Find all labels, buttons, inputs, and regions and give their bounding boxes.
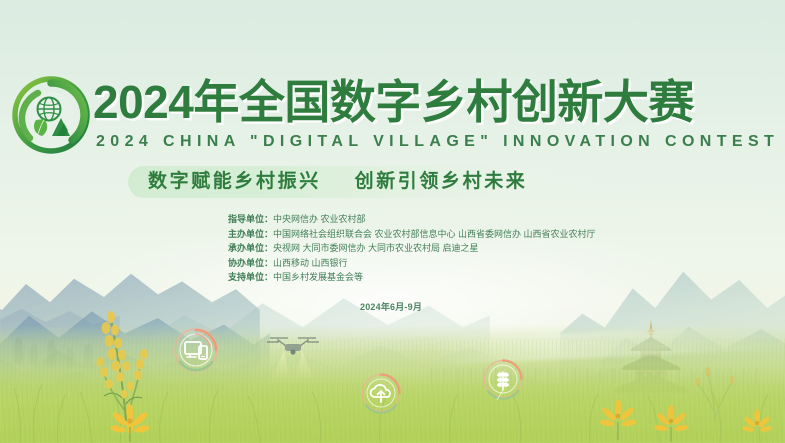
yellow-lily-flower	[598, 398, 638, 440]
cloud-upload-icon	[360, 372, 402, 414]
wheat-stalk	[82, 306, 162, 421]
city-skyline	[430, 368, 760, 394]
grotto-niche	[66, 348, 74, 368]
organizer-label: 承办单位：	[228, 243, 273, 253]
drone-icon	[264, 328, 322, 384]
organizer-value: 中央网信办 农业农村部	[273, 214, 366, 224]
grass-field	[0, 325, 785, 443]
city-skyline	[40, 372, 270, 390]
mountain-range	[150, 272, 490, 392]
mountain-range	[470, 340, 785, 420]
devices-monitor-phone-icon	[172, 326, 220, 374]
slogan-banner: 数字赋能乡村振兴 创新引领乡村未来	[128, 166, 668, 198]
grass-texture	[0, 383, 785, 443]
organizer-label: 主办单位：	[228, 229, 273, 239]
mountain-range	[0, 352, 230, 422]
slogan-right-text: 创新引领乡村未来	[355, 171, 528, 192]
organizer-value: 中国乡村发展基金会等	[273, 272, 363, 282]
yellow-lily-flower	[740, 408, 774, 442]
organizer-value: 山西移动 山西银行	[273, 258, 348, 268]
reed-plant	[690, 352, 740, 422]
field-path	[430, 323, 785, 365]
pagoda-tower	[608, 318, 694, 410]
grass-field-foreground	[0, 371, 785, 443]
organizer-line: 主办单位：中国网络社会组织联合会 农业农村部信息中心 山西省委网信办 山西省农业…	[228, 227, 748, 242]
organizer-line: 协办单位：山西移动 山西银行	[228, 256, 748, 271]
wheat-grain-icon	[482, 358, 524, 400]
slogan-text: 数字赋能乡村振兴 创新引领乡村未来	[148, 166, 527, 198]
yellow-lily-flower	[652, 404, 690, 442]
organizers-block: 指导单位：中央网信办 农业农村部 主办单位：中国网络社会组织联合会 农业农村部信…	[228, 212, 748, 285]
contest-emblem-globe-leaf-mountain-icon	[12, 76, 90, 154]
grass-texture	[0, 338, 785, 443]
yellow-lily-flower	[108, 402, 152, 442]
slogan-left-text: 数字赋能乡村振兴	[148, 171, 321, 192]
page-subtitle: 2024 CHINA "DIGITAL VILLAGE" INNOVATION …	[96, 132, 776, 152]
grotto-niche	[14, 338, 23, 364]
mountain-range	[260, 318, 560, 410]
grotto-niche	[84, 344, 93, 368]
grotto-niche	[47, 340, 56, 368]
grotto-niche	[30, 344, 38, 366]
organizer-line: 指导单位：中央网信办 农业农村部	[228, 212, 748, 227]
organizer-value: 中国网络社会组织联合会 农业农村部信息中心 山西省委网信办 山西省农业农村厅	[273, 229, 596, 239]
mountain-range	[0, 258, 260, 388]
mountain-range	[0, 296, 270, 406]
poster-canvas: 2024年全国数字乡村创新大赛 2024 CHINA "DIGITAL VILL…	[0, 0, 785, 443]
organizer-label: 指导单位：	[228, 214, 273, 224]
page-title: 2024年全国数字乡村创新大赛	[93, 74, 783, 130]
mountain-range	[600, 296, 785, 406]
grotto-cliff	[0, 300, 120, 410]
event-date: 2024年6月-9月	[360, 300, 422, 313]
organizer-line: 支持单位：中国乡村发展基金会等	[228, 270, 748, 285]
organizer-label: 协办单位：	[228, 258, 273, 268]
organizer-value: 央视网 大同市委网信办 大同市农业农村局 启迪之星	[273, 243, 479, 253]
organizer-line: 承办单位：央视网 大同市委网信办 大同市农业农村局 启迪之星	[228, 241, 748, 256]
organizer-label: 支持单位：	[228, 272, 273, 282]
mountain-range	[0, 330, 250, 420]
